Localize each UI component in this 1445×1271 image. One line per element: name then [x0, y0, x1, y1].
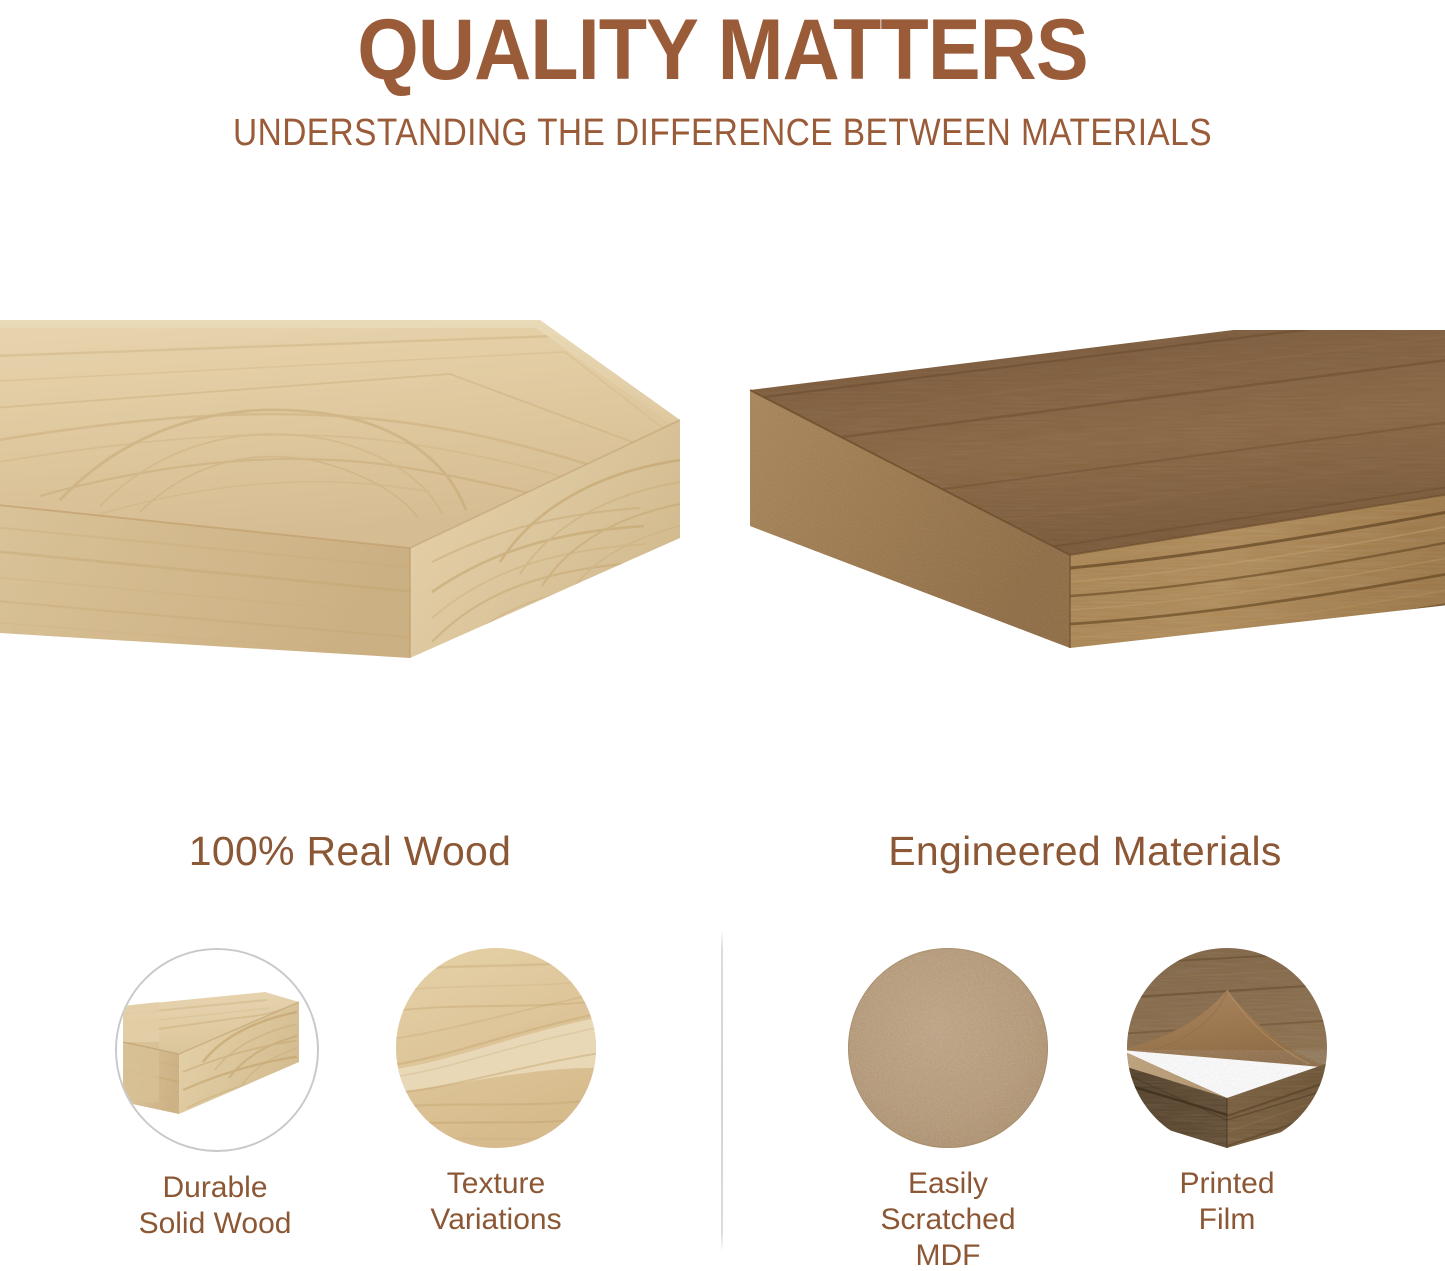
thumbnail-easily-scratched-mdf[interactable]: Easily Scratched MDF: [848, 948, 1048, 1271]
thumbnail-caption: Durable Solid Wood: [115, 1170, 315, 1242]
section-heading-real-wood: 100% Real Wood: [0, 828, 700, 874]
thumbnail-caption: Texture Variations: [396, 1166, 596, 1238]
thumbnail-printed-film[interactable]: Printed Film: [1127, 948, 1327, 1238]
mdf-core-icon: [848, 948, 1048, 1148]
page-subtitle: UNDERSTANDING THE DIFFERENCE BETWEEN MAT…: [87, 96, 1359, 154]
thumbnail-caption: Easily Scratched MDF: [848, 1166, 1048, 1271]
printed-film-icon: [1127, 948, 1327, 1148]
mdf-board-image: [740, 330, 1445, 675]
texture-variations-icon: [396, 948, 596, 1148]
solid-wood-board-image: [0, 300, 710, 670]
header: QUALITY MATTERS UNDERSTANDING THE DIFFER…: [0, 0, 1445, 154]
thumbnail-durable-solid-wood[interactable]: Durable Solid Wood: [115, 948, 315, 1242]
durable-solid-wood-icon: [115, 948, 319, 1152]
thumbnail-texture-variations[interactable]: Texture Variations: [396, 948, 596, 1238]
page-title: QUALITY MATTERS: [58, 0, 1387, 96]
infographic-canvas: QUALITY MATTERS UNDERSTANDING THE DIFFER…: [0, 0, 1445, 1271]
section-heading-engineered: Engineered Materials: [725, 828, 1445, 874]
thumbnail-caption: Printed Film: [1127, 1166, 1327, 1238]
thumbnail-row: Durable Solid Wood: [0, 948, 1445, 1268]
